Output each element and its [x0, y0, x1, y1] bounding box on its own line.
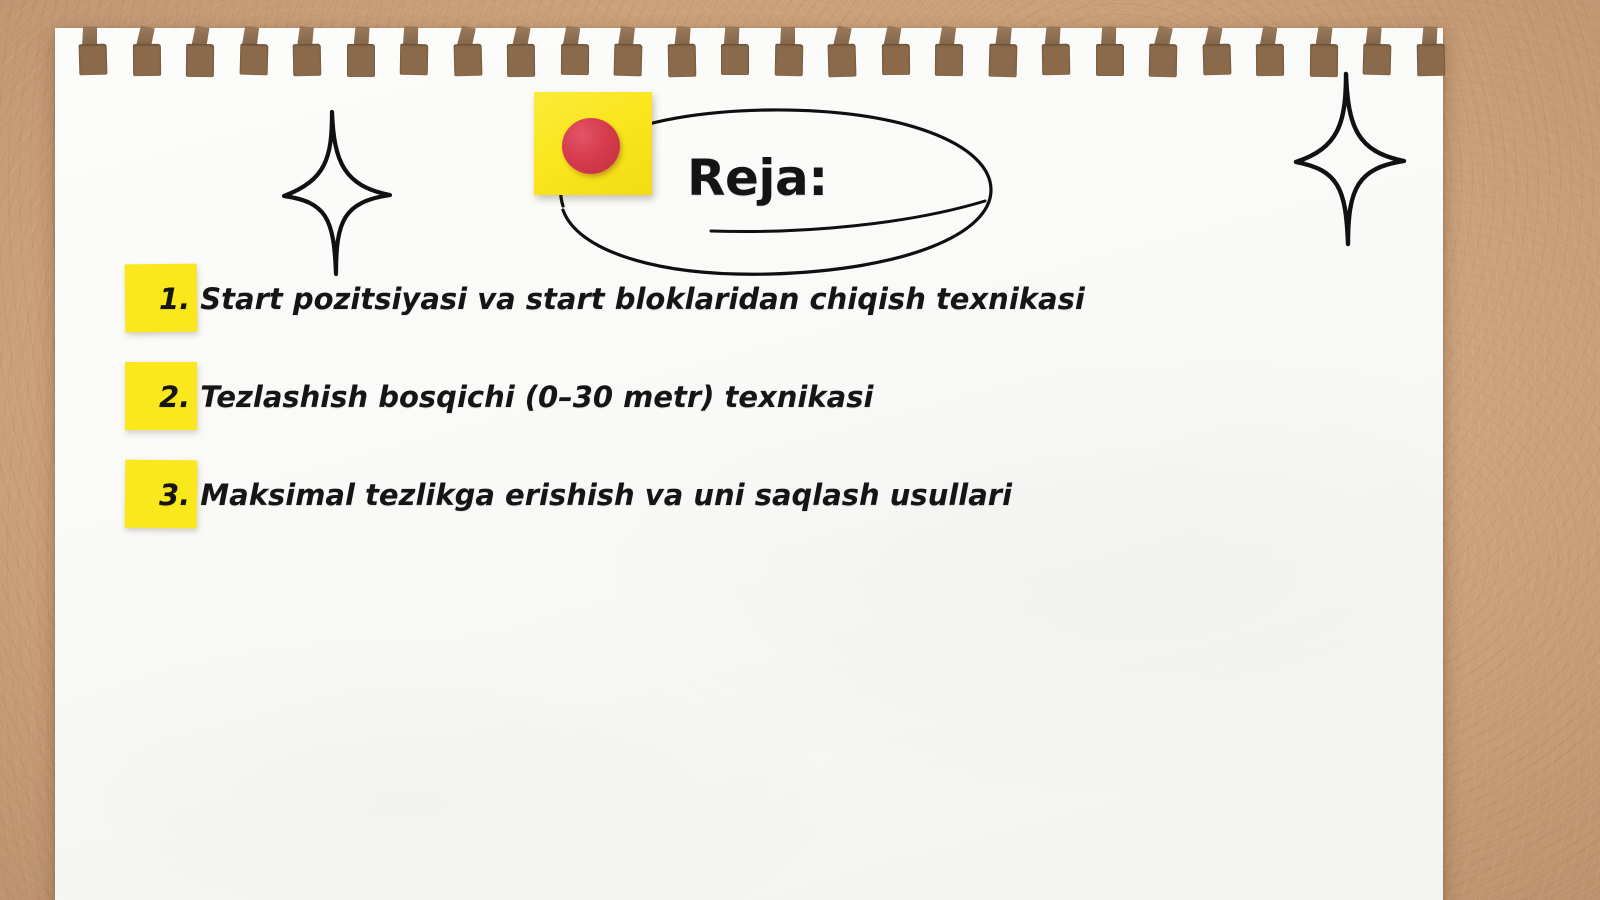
binding-hole [400, 44, 429, 75]
binding-notch [1420, 25, 1438, 46]
binding-hole [560, 44, 588, 75]
binding-hole [1309, 44, 1337, 77]
list-item[interactable]: 2. Tezlashish bosqichi (0–30 metr) texni… [125, 362, 873, 432]
binding-hole [881, 44, 909, 75]
binding-notch [1154, 25, 1173, 47]
binding-hole [1416, 44, 1445, 76]
binding-notch [1099, 25, 1118, 46]
binding-notch [457, 25, 476, 47]
round-pushpin-icon [562, 118, 620, 174]
binding-notch [241, 26, 258, 46]
list-item-label: 1. Start pozitsiyasi va start bloklarida… [125, 282, 1085, 316]
binding-notch [1043, 26, 1061, 47]
binding-notch [778, 25, 797, 47]
binding-hole [1202, 44, 1231, 76]
binding-hole [828, 44, 857, 78]
binding-hole [1042, 44, 1071, 75]
binding-notch [562, 26, 580, 47]
page-title: Reja: [687, 153, 828, 203]
binding-notch [401, 25, 420, 46]
sparkle-star-icon-right [1280, 70, 1410, 250]
notepad-page: Reja: 1. Start pozitsiyasi va start blok… [55, 28, 1443, 900]
list-item[interactable]: 3. Maksimal tezlikga erishish va uni saq… [125, 460, 1012, 530]
sticky-note-pin[interactable] [534, 92, 652, 195]
binding-notch [673, 26, 691, 47]
binding-notch [1204, 25, 1222, 46]
binding-notch [297, 26, 314, 46]
binding-notch [883, 26, 901, 47]
list-item-label: 3. Maksimal tezlikga erishish va uni saq… [125, 478, 1012, 512]
binding-notch [618, 26, 635, 46]
binding-hole [347, 44, 375, 77]
binding-notch [939, 26, 956, 46]
binding-hole [507, 44, 535, 77]
binding-notch [191, 26, 209, 47]
binding-hole [1256, 44, 1284, 76]
slide-canvas: Reja: 1. Start pozitsiyasi va start blok… [0, 0, 1600, 900]
binding-hole [721, 44, 749, 75]
binding-notch [136, 25, 155, 46]
list-item-label: 2. Tezlashish bosqichi (0–30 metr) texni… [125, 380, 873, 414]
binding-notch [1316, 26, 1333, 46]
binding-notch [80, 25, 99, 47]
binding-hole [1096, 44, 1124, 76]
binding-hole [988, 44, 1017, 78]
binding-notch [352, 26, 370, 47]
binding-notch [1365, 26, 1383, 47]
binding-hole [293, 44, 322, 76]
binding-hole [1149, 44, 1178, 77]
binding-hole [614, 44, 643, 77]
binding-hole [453, 44, 482, 77]
binding-notch [722, 25, 740, 46]
binding-hole [667, 44, 696, 77]
binding-notch [512, 25, 530, 46]
binding-hole [239, 44, 268, 76]
binding-hole [774, 44, 803, 76]
spiral-binding [55, 28, 1443, 90]
binding-hole [132, 44, 160, 76]
binding-hole [935, 44, 963, 76]
binding-hole [1363, 44, 1392, 76]
binding-hole [186, 44, 214, 77]
sparkle-star-icon-left [270, 106, 400, 281]
binding-notch [1260, 26, 1278, 47]
binding-hole [79, 44, 108, 76]
binding-notch [994, 26, 1011, 46]
list-item[interactable]: 1. Start pozitsiyasi va start bloklarida… [125, 264, 1085, 334]
binding-notch [833, 25, 852, 46]
